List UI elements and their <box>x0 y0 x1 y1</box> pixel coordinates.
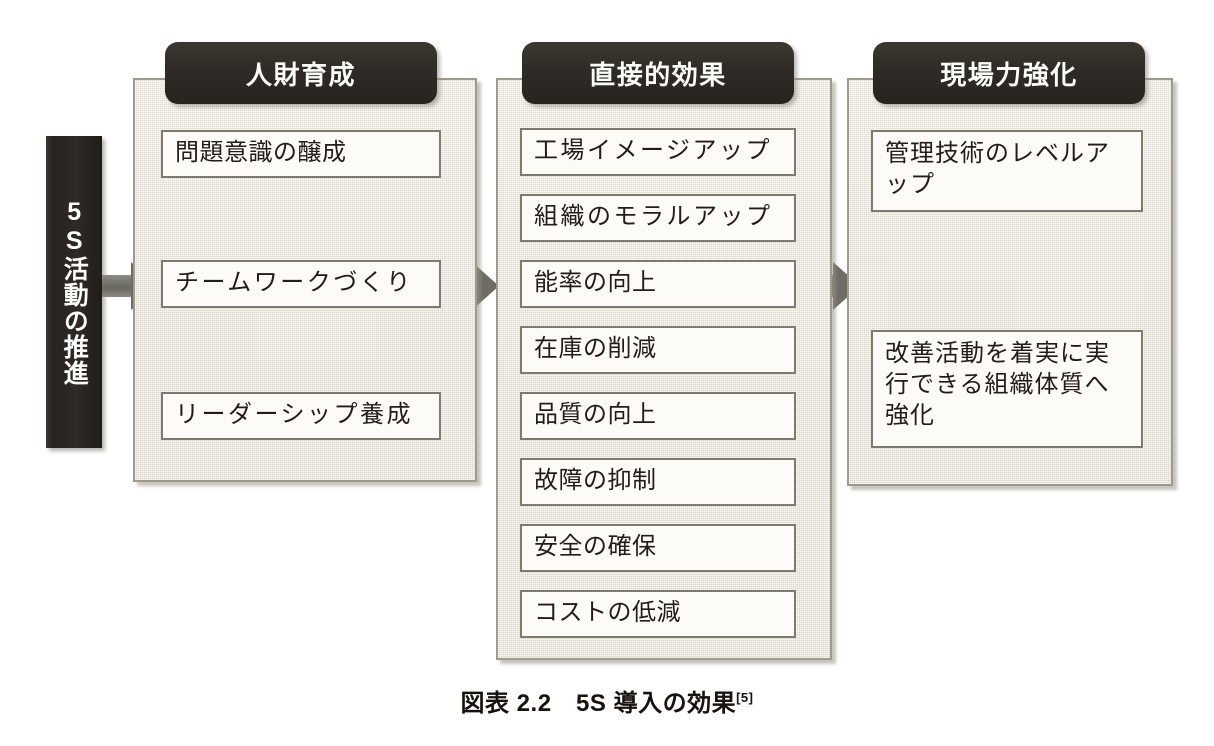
item-card[interactable]: 組織のモラルアップ <box>520 194 796 242</box>
item-card[interactable]: 安全の確保 <box>520 524 796 572</box>
item-card[interactable]: 工場イメージアップ <box>520 128 796 176</box>
figure-caption-text: 図表 2.2 5S 導入の効果 <box>461 690 737 717</box>
item-label: 管理技術のレベルアップ <box>885 139 1129 201</box>
item-card[interactable]: リーダーシップ養成 <box>161 392 441 440</box>
item-label: 能率の向上 <box>534 268 782 299</box>
item-card[interactable]: コストの低減 <box>520 590 796 638</box>
source-bar: 5S活動の推進 <box>46 136 102 448</box>
column-header-label: 現場力強化 <box>940 55 1078 92</box>
column-panel-jinzai-ikusei: 問題意識の醸成 チームワークづくり リーダーシップ養成 <box>133 78 477 482</box>
figure-caption: 図表 2.2 5S 導入の効果[5] <box>0 683 1214 718</box>
item-label: リーダーシップ養成 <box>175 400 427 431</box>
column-body-jinzai-ikusei: 問題意識の醸成 チームワークづくり リーダーシップ養成 <box>135 80 475 480</box>
item-label: 問題意識の醸成 <box>175 138 427 169</box>
column-header-genbaryoku-kyouka: 現場力強化 <box>873 42 1145 104</box>
item-card[interactable]: 能率の向上 <box>520 260 796 308</box>
item-card[interactable]: 改善活動を着実に実行できる組織体質へ強化 <box>871 330 1143 448</box>
column-header-chokusetsuteki-kouka: 直接的効果 <box>522 42 794 104</box>
item-label: 改善活動を着実に実行できる組織体質へ強化 <box>885 339 1129 433</box>
item-card[interactable]: 故障の抑制 <box>520 458 796 506</box>
item-label: コストの低減 <box>534 598 782 629</box>
item-card[interactable]: 在庫の削減 <box>520 326 796 374</box>
source-bar-label: 5S活動の推進 <box>61 198 88 386</box>
item-label: チームワークづくり <box>175 268 427 299</box>
item-label: 組織のモラルアップ <box>534 202 782 233</box>
item-label: 品質の向上 <box>534 400 782 431</box>
item-card[interactable]: チームワークづくり <box>161 260 441 308</box>
column-panel-chokusetsuteki-kouka: 工場イメージアップ 組織のモラルアップ 能率の向上 在庫の削減 品質の向上 故障… <box>496 78 832 660</box>
column-panel-genbaryoku-kyouka: 管理技術のレベルアップ 改善活動を着実に実行できる組織体質へ強化 <box>847 78 1173 486</box>
item-label: 工場イメージアップ <box>534 136 782 167</box>
column-header-label: 直接的効果 <box>589 55 727 92</box>
item-card[interactable]: 品質の向上 <box>520 392 796 440</box>
column-body-genbaryoku-kyouka: 管理技術のレベルアップ 改善活動を着実に実行できる組織体質へ強化 <box>849 80 1171 484</box>
column-header-label: 人財育成 <box>246 55 356 92</box>
column-body-chokusetsuteki-kouka: 工場イメージアップ 組織のモラルアップ 能率の向上 在庫の削減 品質の向上 故障… <box>498 80 830 658</box>
figure-caption-reference: [5] <box>736 690 753 705</box>
item-label: 在庫の削減 <box>534 334 782 365</box>
column-header-jinzai-ikusei: 人財育成 <box>165 42 437 104</box>
item-label: 故障の抑制 <box>534 466 782 497</box>
figure-canvas: 5S活動の推進 問題意識の醸成 チームワークづくり リーダーシップ養成 人財育成 <box>0 0 1214 746</box>
item-card[interactable]: 問題意識の醸成 <box>161 130 441 178</box>
item-label: 安全の確保 <box>534 532 782 563</box>
item-card[interactable]: 管理技術のレベルアップ <box>871 130 1143 212</box>
